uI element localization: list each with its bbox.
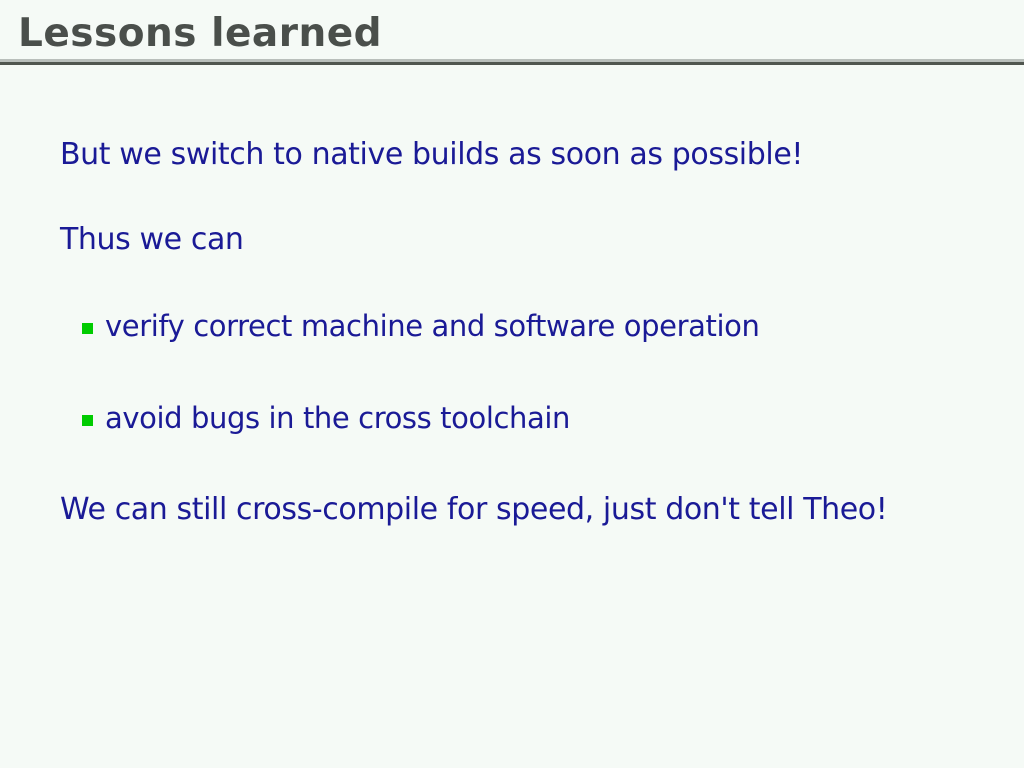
title-divider <box>0 59 1024 65</box>
list-item-label: avoid bugs in the cross toolchain <box>105 400 570 436</box>
body-paragraph-1: But we switch to native builds as soon a… <box>60 136 803 174</box>
slide-body: But we switch to native builds as soon a… <box>0 68 1024 768</box>
page-title: Lessons learned <box>18 12 382 56</box>
body-paragraph-2: Thus we can <box>60 221 244 259</box>
title-divider-dark-line <box>0 62 1024 65</box>
list-item-label: verify correct machine and software oper… <box>105 308 759 344</box>
square-bullet-icon <box>82 323 93 334</box>
list-item: verify correct machine and software oper… <box>82 308 759 344</box>
body-paragraph-3: We can still cross-compile for speed, ju… <box>60 491 887 529</box>
slide-title-block: Lessons learned <box>0 0 1024 68</box>
list-item: avoid bugs in the cross toolchain <box>82 400 570 436</box>
square-bullet-icon <box>82 415 93 426</box>
presentation-slide: Lessons learned But we switch to native … <box>0 0 1024 768</box>
